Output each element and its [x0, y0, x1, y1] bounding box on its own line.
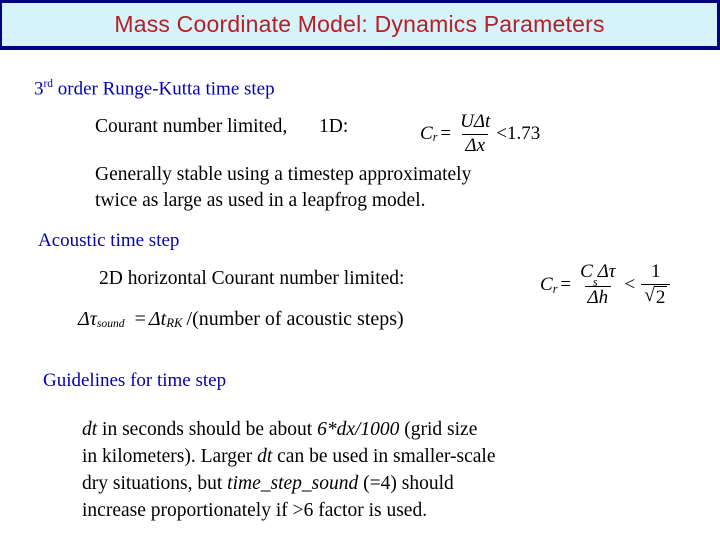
heading-ordinal-suffix: rd — [44, 78, 54, 90]
guidelines-text-3a: dry situations, but — [82, 473, 227, 494]
equation-courant-2d: Cr = CsΔτ Δh < 1 √2 — [540, 262, 673, 308]
guidelines-text-3b: (=4) should — [358, 473, 454, 494]
equation-numerator: UΔt — [457, 112, 493, 134]
equation-less-than-sign: < — [496, 123, 507, 145]
stability-note-line-2: twice as large as used in a leapfrog mod… — [95, 188, 471, 214]
guidelines-dt-italic-2: dt — [257, 446, 272, 467]
guidelines-text-1a: in seconds should be about — [97, 419, 317, 440]
slide-content: 3rd order Runge-Kutta time step Courant … — [0, 50, 720, 540]
section-heading-acoustic-time-step: Acoustic time step — [38, 230, 179, 252]
section-heading-runge-kutta: 3rd order Runge-Kutta time step — [34, 78, 275, 100]
equation-courant-1d: Cr = UΔt Δx <1.73 — [420, 112, 540, 156]
equation-fraction-one-over-sqrt2: 1 √2 — [641, 262, 670, 308]
equation-denominator: Δx — [462, 134, 488, 157]
courant-limit-label-1d: Courant number limited, 1D: — [95, 116, 348, 138]
equation2-rhs-denominator: √2 — [641, 284, 670, 309]
equation-limit-value: 1.73 — [507, 123, 540, 145]
courant-dimension-label: 1D: — [319, 116, 348, 137]
definition-sound-subscript: sound — [97, 317, 125, 330]
equation2-equals-sign: = — [560, 274, 571, 296]
guidelines-dt-italic-1: dt — [82, 419, 97, 440]
guidelines-text-1b: (grid size — [399, 419, 477, 440]
equation2-cr-variable: C — [540, 274, 553, 296]
guidelines-text-2b: can be used in smaller-scale — [272, 446, 495, 467]
guidelines-line-4: increase proportionately if >6 factor is… — [82, 497, 496, 524]
equation2-numerator: CsΔτ — [577, 262, 618, 286]
equation2-numerator-subscript: s — [593, 275, 598, 289]
square-root-icon: √2 — [644, 286, 667, 309]
definition-rk-subscript: RK — [166, 316, 182, 331]
guidelines-text-2a: in kilometers). Larger — [82, 446, 257, 467]
equation-acoustic-timestep-definition: Δτsound = ΔtRK /(number of acoustic step… — [78, 308, 404, 331]
equation-equals-sign: = — [440, 123, 451, 145]
radicand-value: 2 — [654, 286, 668, 309]
guidelines-line-1: dt in seconds should be about 6*dx/1000 … — [82, 416, 496, 443]
equation-fraction-courant-2d: CsΔτ Δh — [577, 262, 618, 308]
guidelines-time-step-sound-italic: time_step_sound — [227, 473, 358, 494]
courant-label-text: Courant number limited, — [95, 116, 287, 137]
equation-cr-subscript: r — [433, 130, 438, 145]
equation2-rhs-numerator: 1 — [648, 262, 664, 284]
definition-delta-t: Δt — [149, 308, 166, 331]
section-heading-guidelines: Guidelines for time step — [43, 370, 226, 392]
equation-fraction-courant-1d: UΔt Δx — [457, 112, 493, 156]
stability-note-line-1: Generally stable using a timestep approx… — [95, 162, 471, 188]
guidelines-formula-italic: 6*dx/1000 — [317, 419, 399, 440]
equation2-cr-subscript: r — [553, 282, 558, 297]
heading-ordinal-number: 3 — [34, 78, 44, 99]
courant-limit-label-2d: 2D horizontal Courant number limited: — [99, 268, 404, 290]
heading-rest-text: order Runge-Kutta time step — [53, 78, 275, 99]
definition-delta-tau: Δτ — [78, 308, 97, 331]
definition-equals-sign: = — [135, 308, 146, 331]
paragraph-timestep-guidelines: dt in seconds should be about 6*dx/1000 … — [82, 416, 496, 524]
equation2-numerator-cs: C — [580, 261, 593, 282]
slide-title-banner: Mass Coordinate Model: Dynamics Paramete… — [0, 0, 720, 50]
page-title: Mass Coordinate Model: Dynamics Paramete… — [114, 11, 604, 38]
equation2-denominator: Δh — [585, 286, 612, 309]
definition-divisor-text: /(number of acoustic steps) — [187, 308, 404, 331]
equation2-numerator-delta-tau: Δτ — [598, 261, 616, 282]
paragraph-stability-note: Generally stable using a timestep approx… — [95, 162, 471, 214]
equation-cr-variable: C — [420, 123, 433, 145]
guidelines-line-2: in kilometers). Larger dt can be used in… — [82, 443, 496, 470]
guidelines-line-3: dry situations, but time_step_sound (=4)… — [82, 470, 496, 497]
equation2-less-than-sign: < — [625, 274, 636, 296]
